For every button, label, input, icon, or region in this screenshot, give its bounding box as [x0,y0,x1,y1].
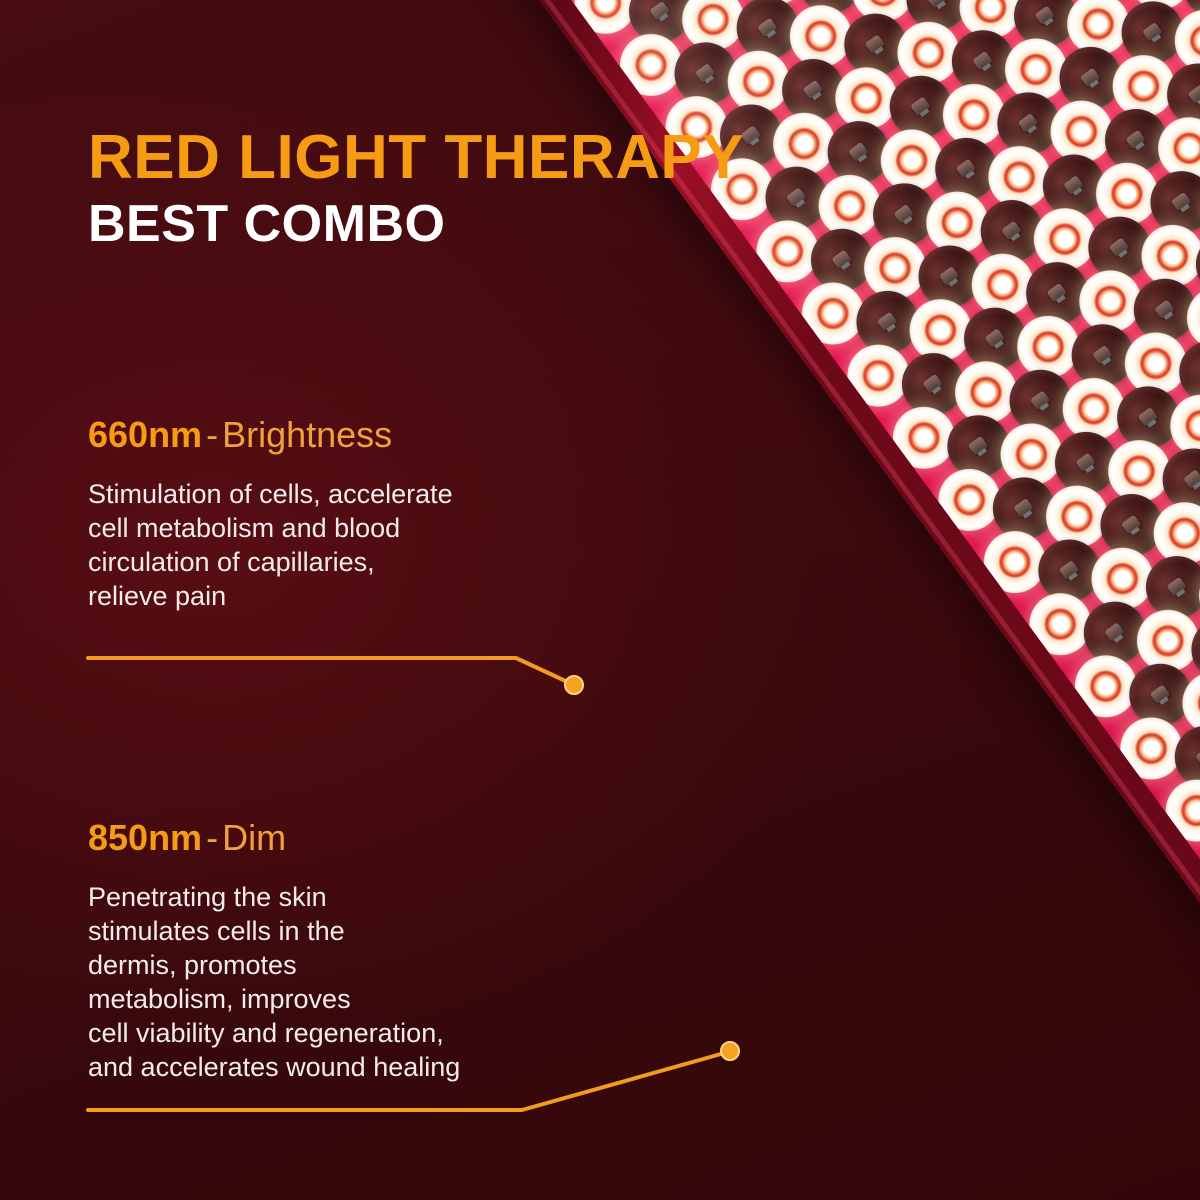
section-660nm-mode: Brightness [222,414,392,455]
section-660nm: 660nm-Brightness Stimulation of cells, a… [88,415,453,613]
section-850nm-mode: Dim [222,817,286,858]
section-850nm-wavelength: 850nm [88,817,202,858]
page-title-secondary: BEST COMBO [88,197,744,252]
section-660nm-dash: - [202,414,222,455]
section-850nm-body: Penetrating the skin stimulates cells in… [88,880,460,1084]
section-660nm-heading: 660nm-Brightness [88,415,453,455]
section-850nm-dash: - [202,817,222,858]
section-660nm-body: Stimulation of cells, accelerate cell me… [88,477,453,613]
infographic-canvas: RED LIGHT THERAPY BEST COMBO 660nm-Brigh… [0,0,1200,1200]
section-660nm-wavelength: 660nm [88,414,202,455]
page-title-primary: RED LIGHT THERAPY [88,126,744,189]
title-block: RED LIGHT THERAPY BEST COMBO [88,126,744,252]
section-850nm-heading: 850nm-Dim [88,818,460,858]
section-850nm: 850nm-Dim Penetrating the skin stimulate… [88,818,460,1084]
text-content: RED LIGHT THERAPY BEST COMBO 660nm-Brigh… [0,0,1200,1200]
